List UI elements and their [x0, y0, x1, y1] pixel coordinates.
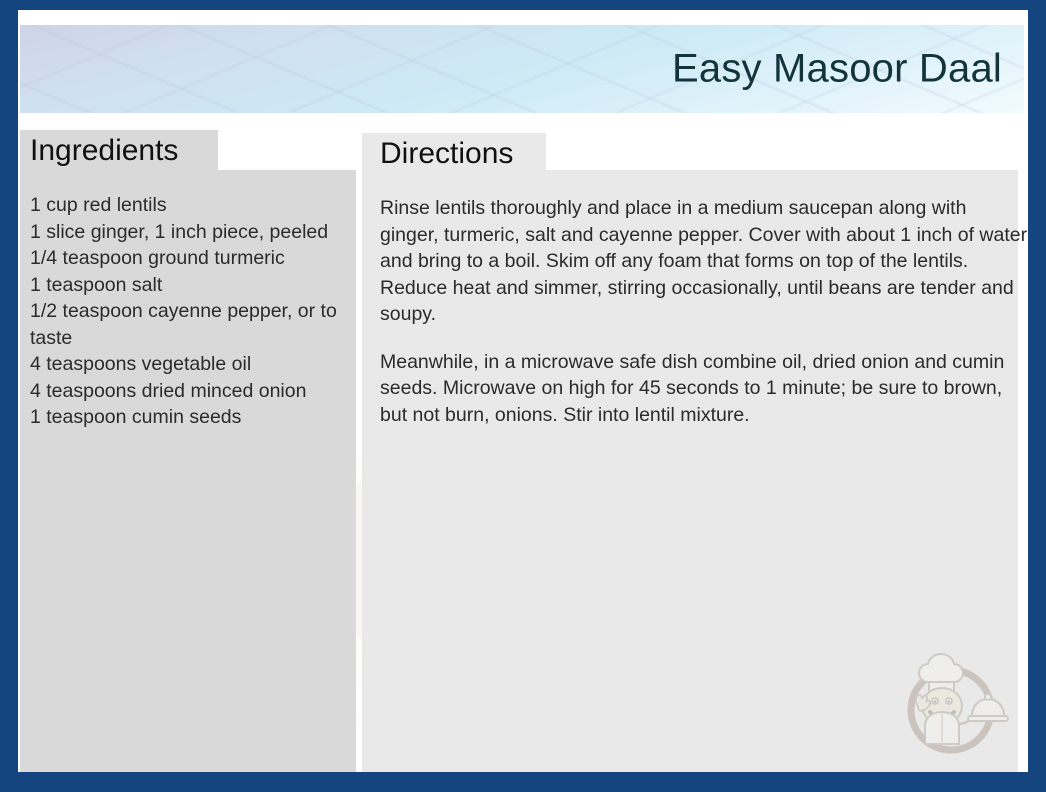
- chef-logo: [892, 644, 1010, 762]
- list-item: 1/4 teaspoon ground turmeric: [30, 245, 368, 272]
- directions-paragraph: Meanwhile, in a microwave safe dish comb…: [380, 349, 1028, 429]
- list-item: 1 slice ginger, 1 inch piece, peeled: [30, 219, 368, 246]
- list-item: 1 cup red lentils: [30, 192, 368, 219]
- directions-heading-box: Directions: [362, 133, 546, 175]
- page-title: Easy Masoor Daal: [672, 47, 1002, 92]
- directions-heading: Directions: [380, 137, 513, 171]
- list-item: 1/2 teaspoon cayenne pepper, or to taste: [30, 298, 368, 351]
- ingredients-list: 1 cup red lentils 1 slice ginger, 1 inch…: [30, 192, 368, 431]
- title-banner: Easy Masoor Daal: [20, 25, 1024, 113]
- directions-paragraph: Rinse lentils thoroughly and place in a …: [380, 195, 1028, 328]
- list-item: 4 teaspoons dried minced onion: [30, 378, 368, 405]
- recipe-slide: Easy Masoor Daal Ingredients 1 cup red l…: [0, 0, 1046, 792]
- list-item: 1 teaspoon salt: [30, 272, 368, 299]
- ingredients-heading: Ingredients: [30, 134, 178, 168]
- ingredients-heading-box: Ingredients: [20, 130, 218, 172]
- slide-page: Easy Masoor Daal Ingredients 1 cup red l…: [18, 10, 1028, 772]
- list-item: 1 teaspoon cumin seeds: [30, 404, 368, 431]
- directions-text: Rinse lentils thoroughly and place in a …: [380, 195, 1028, 449]
- list-item: 4 teaspoons vegetable oil: [30, 351, 368, 378]
